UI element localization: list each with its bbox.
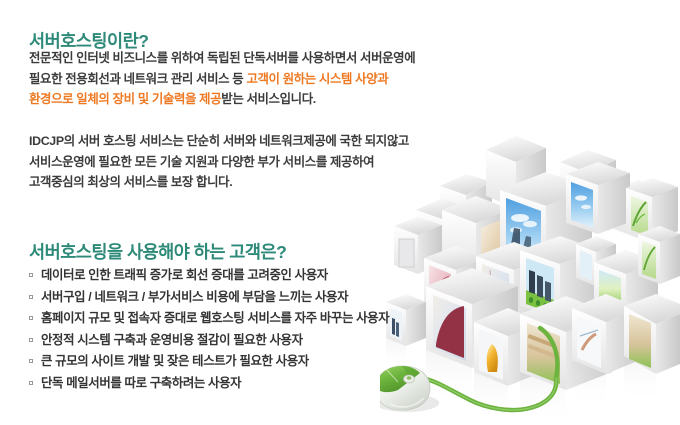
list-item: 안정적 시스템 구축과 운영비용 절감이 필요한 사용자 xyxy=(29,330,389,352)
list-item-label: 큰 규모의 사이트 개발 및 잦은 테스트가 필요한 사용자 xyxy=(41,354,309,368)
text-run: IDCJP의 서버 호스팅 서비스는 단순히 서버와 네트워크제공에 국한 되지… xyxy=(29,134,409,148)
list-item-label: 단독 메일서버를 따로 구축하려는 사용자 xyxy=(41,376,241,390)
square-bullet-icon xyxy=(29,338,33,342)
cube-photo-group-middle xyxy=(424,226,680,324)
text-run-highlight: 고객이 원하는 시스템 사양과 xyxy=(246,72,388,86)
list-item: 데이터로 인한 트래픽 증가로 회선 증대를 고려중인 사용자 xyxy=(29,265,389,287)
list-item: 서버구입 / 네트워크 / 부가서비스 비용에 부담을 느끼는 사용자 xyxy=(29,287,389,309)
list-item-label: 서버구입 / 네트워크 / 부가서비스 비용에 부담을 느끼는 사용자 xyxy=(41,290,348,304)
text-run: 전문적인 인터넷 비즈니스를 위하여 독립된 단독서버를 사용하면서 서버운영에 xyxy=(29,51,415,65)
page-title-who-should-use: 서버호스팅을 사용해야 하는 고객은? xyxy=(29,244,286,262)
paragraph-definition: 전문적인 인터넷 비즈니스를 위하여 독립된 단독서버를 사용하면서 서버운영에… xyxy=(29,48,415,110)
page-root: 서버호스팅이란? 전문적인 인터넷 비즈니스를 위하여 독립된 단독서버를 사용… xyxy=(0,0,680,425)
square-bullet-icon xyxy=(29,295,33,299)
list-item-label: 홈페이지 규모 및 접속자 증대로 웹호스팅 서비스를 자주 바꾸는 사용자 xyxy=(41,311,389,325)
cube-back-group xyxy=(416,136,662,260)
list-item: 홈페이지 규모 및 접속자 증대로 웹호스팅 서비스를 자주 바꾸는 사용자 xyxy=(29,308,389,330)
list-item: 큰 규모의 사이트 개발 및 잦은 테스트가 필요한 사용자 xyxy=(29,351,389,373)
square-bullet-icon xyxy=(29,273,33,277)
text-content: 서버호스팅이란? 전문적인 인터넷 비즈니스를 위하여 독립된 단독서버를 사용… xyxy=(0,0,430,425)
paragraph-line: 필요한 전용회선과 네트워크 관리 서비스 등 고객이 원하는 시스템 사양과 xyxy=(29,69,415,90)
cube-photo-group-front xyxy=(386,268,680,390)
paragraph-line: IDCJP의 서버 호스팅 서비스는 단순히 서버와 네트워크제공에 국한 되지… xyxy=(29,131,409,152)
square-bullet-icon xyxy=(29,381,33,385)
square-bullet-icon xyxy=(29,359,33,363)
text-run: 필요한 전용회선과 네트워크 관리 서비스 등 xyxy=(29,72,246,86)
list-item-label: 데이터로 인한 트래픽 증가로 회선 증대를 고려중인 사용자 xyxy=(41,268,328,282)
text-run: 받는 서비스입니다. xyxy=(221,92,316,106)
list-item-label: 안정적 시스템 구축과 운영비용 절감이 필요한 사용자 xyxy=(41,333,303,347)
paragraph-line: 서비스운영에 필요한 모든 기술 지원과 다양한 부가 서비스를 제공하여 xyxy=(29,152,409,173)
paragraph-idcjp-service: IDCJP의 서버 호스팅 서비스는 단순히 서버와 네트워크제공에 국한 되지… xyxy=(29,131,409,193)
cube-photo-group-upper xyxy=(394,162,678,274)
list-item: 단독 메일서버를 따로 구축하려는 사용자 xyxy=(29,373,389,395)
square-bullet-icon xyxy=(29,316,33,320)
text-run: 고객중심의 최상의 서비스를 보장 합니다. xyxy=(29,175,232,189)
paragraph-line: 전문적인 인터넷 비즈니스를 위하여 독립된 단독서버를 사용하면서 서버운영에 xyxy=(29,48,415,69)
paragraph-line: 고객중심의 최상의 서비스를 보장 합니다. xyxy=(29,172,409,193)
text-run: 서비스운영에 필요한 모든 기술 지원과 다양한 부가 서비스를 제공하여 xyxy=(29,155,374,169)
target-customer-list: 데이터로 인한 트래픽 증가로 회선 증대를 고려중인 사용자 서버구입 / 네… xyxy=(29,265,389,395)
text-run-highlight: 환경으로 일체의 장비 및 기술력을 제공 xyxy=(29,92,221,106)
paragraph-line: 환경으로 일체의 장비 및 기술력을 제공받는 서비스입니다. xyxy=(29,89,415,110)
